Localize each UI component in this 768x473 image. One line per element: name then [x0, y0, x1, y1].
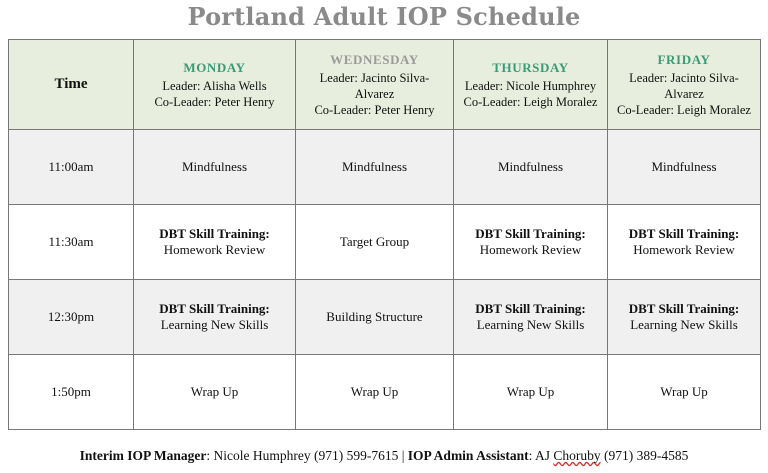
activity-cell: DBT Skill Training: Learning New Skills [454, 280, 608, 355]
table-body: 11:00am Mindfulness Mindfulness Mindfuln… [9, 130, 761, 430]
activity-cell: Target Group [296, 205, 454, 280]
activity-title: DBT Skill Training: [613, 301, 755, 318]
time-slot: 1:50pm [9, 355, 134, 430]
activity-name: Mindfulness [459, 159, 602, 176]
activity-name: Learning New Skills [459, 317, 602, 334]
leader-friday: Leader: Jacinto Silva-Alvarez [613, 70, 755, 102]
day-label-monday: MONDAY [139, 60, 290, 76]
admin-last-name-misspelled: Choruby [553, 448, 600, 463]
activity-cell: Wrap Up [608, 355, 761, 430]
activity-name: Wrap Up [459, 384, 602, 401]
table-row: 11:30am DBT Skill Training: Homework Rev… [9, 205, 761, 280]
footer-divider: | [398, 448, 407, 463]
activity-title: DBT Skill Training: [459, 301, 602, 318]
activity-cell: DBT Skill Training: Homework Review [454, 205, 608, 280]
activity-cell: Mindfulness [608, 130, 761, 205]
column-header-thursday: THURSDAY Leader: Nicole Humphrey Co-Lead… [454, 40, 608, 130]
activity-cell: DBT Skill Training: Homework Review [134, 205, 296, 280]
table-row: 11:00am Mindfulness Mindfulness Mindfuln… [9, 130, 761, 205]
column-header-wednesday: WEDNESDAY Leader: Jacinto Silva-Alvarez … [296, 40, 454, 130]
activity-cell: Wrap Up [454, 355, 608, 430]
activity-cell: Mindfulness [454, 130, 608, 205]
coleader-friday: Co-Leader: Leigh Moralez [613, 102, 755, 118]
admin-phone: (971) 389-4585 [601, 448, 689, 463]
activity-cell: Mindfulness [134, 130, 296, 205]
activity-cell: Wrap Up [134, 355, 296, 430]
manager-name: Nicole Humphrey [213, 448, 313, 463]
column-header-time: Time [9, 40, 134, 130]
table-row: 1:50pm Wrap Up Wrap Up Wrap Up Wrap Up [9, 355, 761, 430]
activity-cell: DBT Skill Training: Learning New Skills [134, 280, 296, 355]
activity-cell: Wrap Up [296, 355, 454, 430]
activity-name: Target Group [301, 234, 448, 251]
activity-name: Learning New Skills [613, 317, 755, 334]
activity-title: DBT Skill Training: [139, 226, 290, 243]
activity-name: Wrap Up [301, 384, 448, 401]
time-slot: 11:30am [9, 205, 134, 280]
contact-footer: Interim IOP Manager: Nicole Humphrey (97… [0, 447, 768, 465]
activity-name: Mindfulness [139, 159, 290, 176]
activity-cell: Mindfulness [296, 130, 454, 205]
activity-name: Building Structure [301, 309, 448, 326]
coleader-wednesday: Co-Leader: Peter Henry [301, 102, 448, 118]
coleader-monday: Co-Leader: Peter Henry [139, 94, 290, 110]
activity-title: DBT Skill Training: [459, 226, 602, 243]
admin-first-name: AJ [535, 448, 553, 463]
table-header: Time MONDAY Leader: Alisha Wells Co-Lead… [9, 40, 761, 130]
coleader-thursday: Co-Leader: Leigh Moralez [459, 94, 602, 110]
day-label-friday: FRIDAY [613, 52, 755, 68]
activity-name: Wrap Up [613, 384, 755, 401]
activity-name: Mindfulness [613, 159, 755, 176]
schedule-table-wrapper: Time MONDAY Leader: Alisha Wells Co-Lead… [8, 39, 760, 430]
admin-label: IOP Admin Assistant [408, 448, 529, 463]
activity-cell: DBT Skill Training: Homework Review [608, 205, 761, 280]
activity-name: Homework Review [613, 242, 755, 259]
leader-thursday: Leader: Nicole Humphrey [459, 78, 602, 94]
page-title: Portland Adult IOP Schedule [0, 0, 768, 30]
activity-name: Learning New Skills [139, 317, 290, 334]
table-row: 12:30pm DBT Skill Training: Learning New… [9, 280, 761, 355]
activity-name: Mindfulness [301, 159, 448, 176]
column-header-friday: FRIDAY Leader: Jacinto Silva-Alvarez Co-… [608, 40, 761, 130]
manager-phone: (971) 599-7615 [314, 448, 398, 463]
leader-monday: Leader: Alisha Wells [139, 78, 290, 94]
manager-label: Interim IOP Manager [80, 448, 207, 463]
schedule-page: Portland Adult IOP Schedule Time MONDAY … [0, 0, 768, 473]
activity-cell: DBT Skill Training: Learning New Skills [608, 280, 761, 355]
leader-wednesday: Leader: Jacinto Silva-Alvarez [301, 70, 448, 102]
activity-name: Homework Review [139, 242, 290, 259]
time-slot: 12:30pm [9, 280, 134, 355]
schedule-table: Time MONDAY Leader: Alisha Wells Co-Lead… [8, 39, 761, 430]
day-label-wednesday: WEDNESDAY [301, 52, 448, 68]
activity-title: DBT Skill Training: [139, 301, 290, 318]
activity-name: Wrap Up [139, 384, 290, 401]
header-row: Time MONDAY Leader: Alisha Wells Co-Lead… [9, 40, 761, 130]
day-label-thursday: THURSDAY [459, 60, 602, 76]
time-slot: 11:00am [9, 130, 134, 205]
activity-cell: Building Structure [296, 280, 454, 355]
activity-name: Homework Review [459, 242, 602, 259]
column-header-monday: MONDAY Leader: Alisha Wells Co-Leader: P… [134, 40, 296, 130]
activity-title: DBT Skill Training: [613, 226, 755, 243]
